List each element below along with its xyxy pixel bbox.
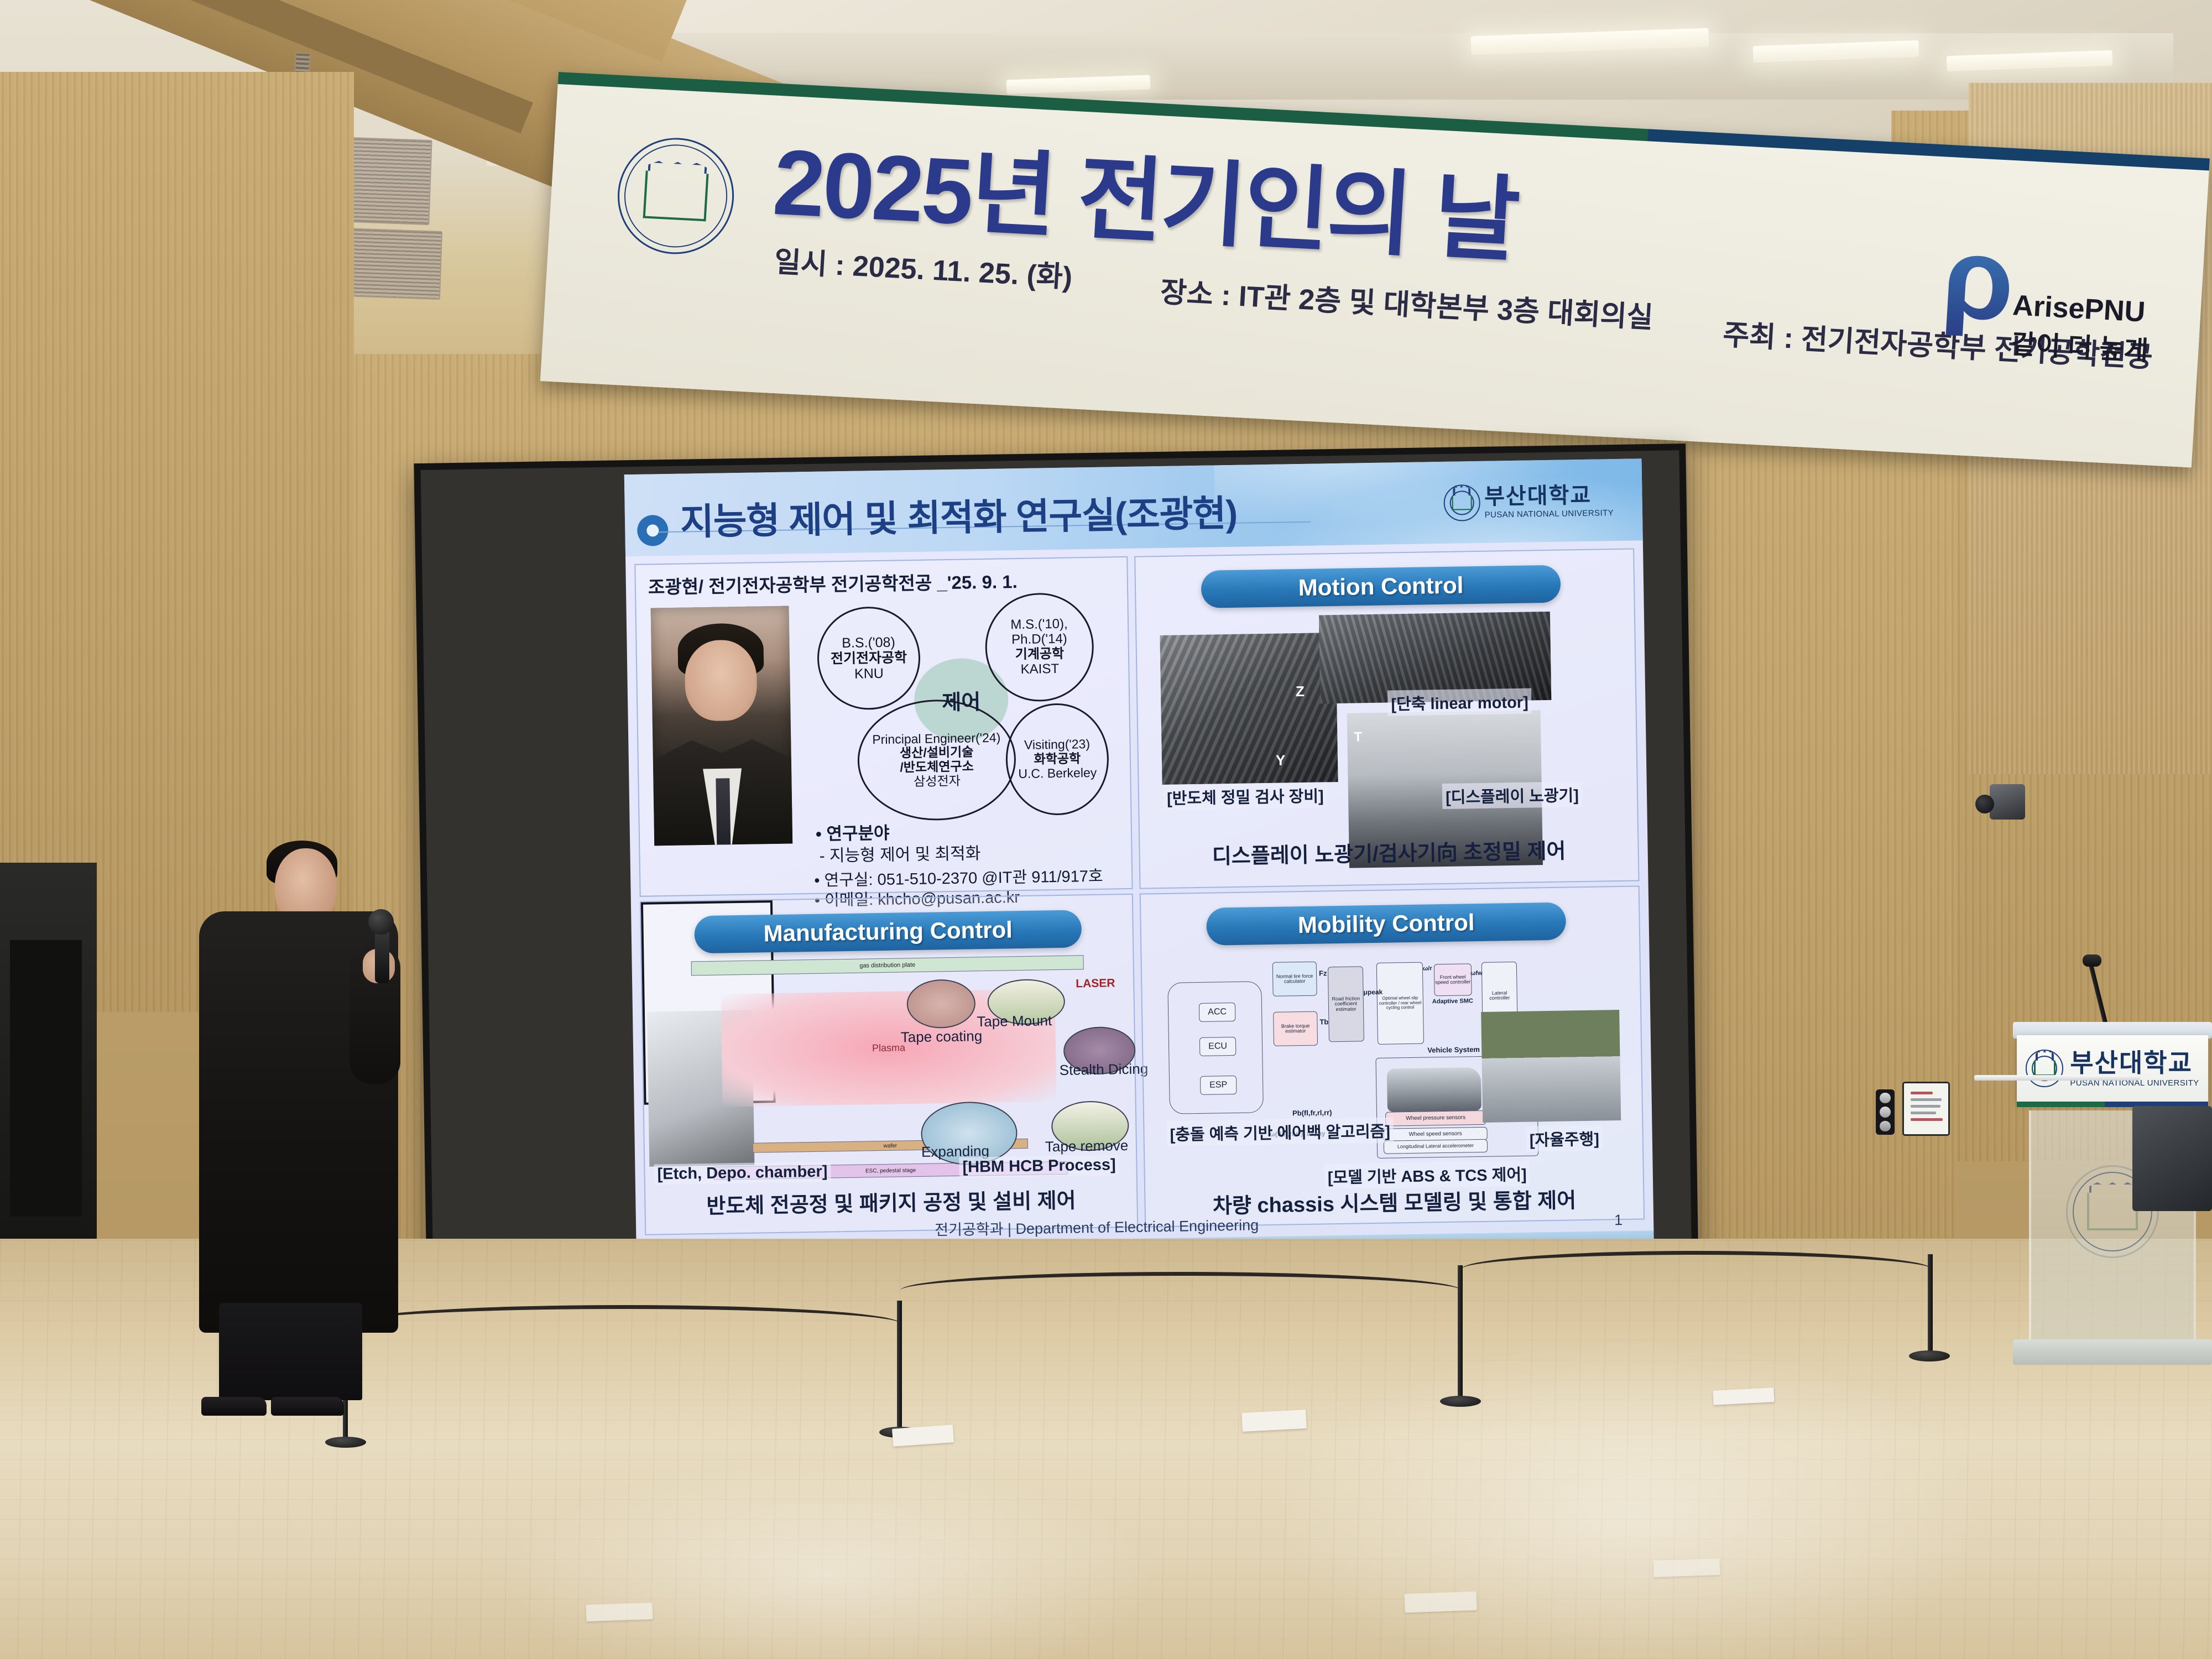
barrier-rope-1	[900, 1272, 1461, 1309]
signal-tb: Tb	[1319, 1018, 1328, 1026]
process-step-laser: LASER	[1076, 977, 1115, 990]
microphone-head-icon	[368, 909, 394, 935]
venn-berkeley-line2: 화학공학	[1034, 752, 1081, 766]
presenter-legs	[219, 1303, 362, 1400]
manufacturing-control-pill: Manufacturing Control	[694, 910, 1082, 953]
wall-notice-sign	[1902, 1082, 1950, 1136]
note-wheel-pressure-sensors: Wheel pressure sensors	[1385, 1110, 1486, 1126]
block-normal-tire-force: Normal tire force calculator	[1272, 962, 1317, 997]
presenter-shoe-left	[201, 1397, 267, 1416]
venn-bs-line1: B.S.('08)	[842, 635, 895, 651]
motion-control-caption: 디스플레이 노광기/검사기向 초정밀 제어	[1140, 832, 1638, 870]
control-panel-button-stop[interactable]	[1880, 1107, 1891, 1118]
left-door-inner-frame	[10, 940, 82, 1217]
notice-sign-line-2	[1911, 1105, 1940, 1108]
venn-circle-samsung: Principal Engineer('24) 생산/설비기술 /반도체연구소 …	[857, 698, 1016, 821]
arise-pnu-slogan: 같이 더 높게	[2011, 322, 2150, 368]
venn-bs-line2: 전기전자공학	[831, 650, 907, 666]
block-wheel-slip-controller: Optimal wheel slip controller / rear whe…	[1376, 962, 1424, 1045]
label-display-exposure: [디스플레이 노광기]	[1442, 781, 1583, 809]
slide-pnu-book-icon	[1452, 495, 1472, 510]
axis-label-y: Y	[1276, 752, 1286, 769]
venn-samsung-line3: /반도체연구소	[900, 759, 974, 775]
mobility-control-pill: Mobility Control	[1206, 902, 1566, 946]
ecu-node-ecu: ECU	[1199, 1037, 1237, 1056]
slide-page-number: 1	[1614, 1212, 1623, 1229]
podium-name-kr: 부산대학교	[2070, 1050, 2199, 1076]
notice-sign-line-4	[1911, 1118, 1943, 1121]
slide-footer-text: 전기공학과 | Department of Electrical Enginee…	[935, 1213, 1259, 1239]
venn-circle-berkeley: Visiting('23) 화학공학 U.C. Berkeley	[1005, 702, 1109, 816]
venn-samsung-line2: 생산/설비기술	[900, 745, 974, 761]
slide-pnu-name-en: PUSAN NATIONAL UNIVERSITY	[1485, 509, 1614, 519]
notice-sign-heading-line	[1911, 1092, 1933, 1094]
podium-base	[2013, 1339, 2212, 1365]
slide-pnu-logo: 부산대학교 PUSAN NATIONAL UNIVERSITY	[1443, 482, 1614, 521]
slide-pnu-seal-icon	[1443, 484, 1480, 521]
stanchion-base-0	[325, 1437, 366, 1448]
ecu-node-acc: ACC	[1199, 1003, 1236, 1022]
research-item: - 지능형 제어 및 최적화	[819, 839, 980, 867]
label-hbm-hcb-process: [HBM HCB Process]	[959, 1155, 1119, 1178]
podium-pnu-seal-icon	[2026, 1050, 2063, 1087]
block-road-friction: Road friction coefficient estimator	[1328, 966, 1364, 1042]
note-vehicle-system: Vehicle System	[1427, 1045, 1480, 1054]
vehicle-illustration	[1387, 1067, 1481, 1112]
quadrant-profile: 조광현/ 전기전자공학부 전기공학전공 _'25. 9. 1. 제어 B.S.(…	[634, 556, 1133, 897]
venn-ms-line3: 기계공학	[1015, 647, 1065, 662]
motion-control-pill: Motion Control	[1201, 565, 1561, 608]
projection-screen-frame: 지능형 제어 및 최적화 연구실(조광현) 부산대학교 PUSAN NATION…	[414, 444, 1698, 1293]
autonomous-vehicle-photo	[1481, 1010, 1621, 1123]
presenter	[199, 841, 398, 1416]
note-adaptive-smc: Adaptive SMC	[1432, 998, 1473, 1005]
slide-title: 지능형 제어 및 최적화 연구실(조광현)	[680, 484, 1237, 546]
barrier-rope-2	[1461, 1251, 1932, 1288]
wall-shelf-rail	[1974, 1075, 2140, 1081]
venn-berkeley-line1: Visiting('23)	[1024, 737, 1090, 753]
venn-bs-line3: KNU	[854, 666, 884, 682]
axis-label-t: T	[1354, 729, 1362, 745]
presenter-shoe-right	[271, 1397, 344, 1416]
manufacturing-control-caption: 반도체 전공정 및 패키지 공정 및 설비 제어	[645, 1182, 1137, 1220]
presentation-slide: 지능형 제어 및 최적화 연구실(조광현) 부산대학교 PUSAN NATION…	[624, 458, 1654, 1265]
arise-pnu-logo: ρ ArisePNU 같이 더 높게	[1937, 244, 2176, 378]
pnu-seal-book-icon	[643, 171, 709, 221]
wall-mounted-camera-icon	[1990, 784, 2025, 820]
wall-vent-grille-2	[343, 228, 442, 300]
arise-pnu-mark-icon: ρ	[1939, 219, 2017, 338]
note-lateral-accelerometer: Longitudinal Lateral accelerometer	[1384, 1139, 1488, 1154]
podium-watermark-book-icon	[2087, 1193, 2138, 1231]
notice-sign-line-3	[1911, 1112, 1936, 1114]
chamber-gas-plate: gas distribution plate	[691, 955, 1084, 975]
podium-pnu-book-icon	[2034, 1061, 2056, 1077]
label-airbag-algorithm: [충돌 예측 기반 에어백 알고리즘]	[1166, 1117, 1394, 1146]
floor-marker-tag-4	[586, 1603, 653, 1621]
label-etch-depo-chamber: [Etch, Depo. chamber]	[654, 1161, 831, 1185]
venn-samsung-line1: Principal Engineer('24)	[872, 731, 1000, 747]
floor-marker-tag-5	[1404, 1592, 1477, 1613]
photo-tie	[716, 778, 731, 845]
motion-inspection-equipment-image	[1160, 633, 1338, 785]
process-step-stealth-dicing: Stealth Dicing	[1059, 1060, 1148, 1079]
block-front-wheel-speed: Front wheel speed controller	[1434, 963, 1472, 996]
signal-brake-pressure: Pb(fl,fr,rl,rr)	[1292, 1108, 1332, 1117]
profile-heading: 조광현/ 전기전자공학부 전기공학전공 _'25. 9. 1.	[648, 567, 1018, 599]
label-inspection-equipment: [반도체 정밀 검사 장비]	[1164, 782, 1327, 810]
control-panel-button-up[interactable]	[1880, 1093, 1891, 1104]
quadrant-mobility-control: Mobility Control ACC ECU ESP Normal tire…	[1140, 885, 1645, 1227]
block-brake-torque: Brake torque estimator	[1273, 1011, 1318, 1046]
venn-berkeley-line3: U.C. Berkeley	[1018, 766, 1097, 781]
wall-control-panel[interactable]	[1876, 1089, 1895, 1135]
stanchion-base-3	[1909, 1350, 1950, 1361]
podium-equipment	[2132, 1106, 2212, 1211]
motion-control-title: Motion Control	[1298, 572, 1463, 601]
venn-samsung-line4: 삼성전자	[914, 774, 961, 789]
stanchion-post-1	[897, 1301, 902, 1432]
axis-label-z: Z	[1296, 683, 1305, 700]
pnu-seal-banner	[614, 135, 737, 257]
signal-omega-r: ω/r	[1423, 965, 1432, 972]
label-autonomous-driving: [자율주행]	[1526, 1125, 1603, 1152]
venn-circle-bs: B.S.('08) 전기전자공학 KNU	[817, 606, 921, 711]
notice-sign-line-1	[1911, 1098, 1942, 1101]
signal-mu-peak: μpeak	[1363, 988, 1383, 997]
floor-marker-tag-6	[1653, 1558, 1720, 1577]
stanchion-base-2	[1440, 1396, 1481, 1407]
barrier-rope-0	[347, 1305, 900, 1342]
slide-pnu-name-kr: 부산대학교	[1484, 484, 1614, 508]
control-panel-button-down[interactable]	[1880, 1121, 1891, 1132]
quadrant-motion-control: Motion Control Z Y T [반도체 정밀 검사 장비] [단축 …	[1134, 549, 1639, 889]
scene-root: 2025년 전기인의 날 일시 : 2025. 11. 25. (화) 장소 :…	[0, 0, 2212, 1659]
banner-place: 장소 : IT관 2층 및 대학본부 3층 대회의실	[1159, 269, 1655, 336]
signal-omega-fw: ωfw	[1470, 970, 1483, 977]
process-step-tape-mount: Tape Mount	[977, 1012, 1052, 1030]
mobility-control-title: Mobility Control	[1297, 909, 1474, 938]
venn-ms-line4: KAIST	[1020, 662, 1059, 677]
venn-circle-ms-phd: M.S.('10), Ph.D('14) 기계공학 KAIST	[984, 592, 1094, 702]
manufacturing-control-title: Manufacturing Control	[763, 916, 1013, 947]
podium-microphone-head	[2083, 954, 2101, 967]
label-linear-motor: [단축 linear motor]	[1387, 688, 1532, 716]
quadrant-manufacturing-control: Manufacturing Control gas distribution p…	[640, 894, 1138, 1235]
professor-photo	[651, 606, 793, 846]
stanchion-post-2	[1458, 1265, 1463, 1401]
process-step-tape-coating: Tape coating	[901, 1027, 983, 1046]
photo-face	[684, 640, 757, 722]
signal-fz: Fz	[1319, 969, 1327, 977]
process-step-tape-remove: Tape remove	[1045, 1137, 1129, 1155]
ecu-node-esp: ESP	[1200, 1076, 1237, 1095]
floor-marker-tag-2	[1241, 1410, 1307, 1432]
venn-ms-line2: Ph.D('14)	[1011, 632, 1067, 648]
podium-nameplate: 부산대학교 PUSAN NATIONAL UNIVERSITY	[2017, 1035, 2208, 1102]
venn-ms-line1: M.S.('10),	[1010, 617, 1068, 633]
